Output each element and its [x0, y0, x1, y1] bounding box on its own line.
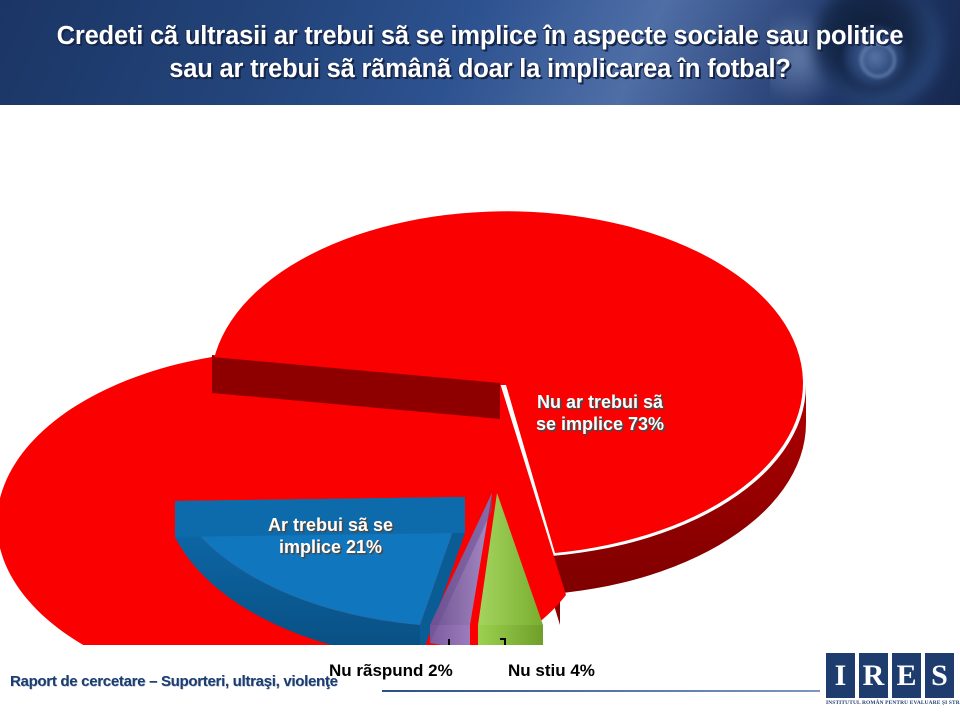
logo-tagline: INSTITUTUL ROMÂN PENTRU EVALUARE ŞI STRA… — [826, 700, 954, 706]
footer: Raport de cercetare – Suporteri, ultraşi… — [0, 645, 960, 720]
footer-divider — [382, 690, 820, 692]
header-banner: Credeti cã ultrasii ar trebui sã se impl… — [0, 0, 960, 105]
logo-letter-i: I — [826, 653, 855, 698]
pie-chart: Nu ar trebui sã se implice 73% Ar trebui… — [0, 105, 960, 645]
footer-report-title: Raport de cercetare – Suporteri, ultraşi… — [10, 673, 338, 690]
logo-letter-r: R — [859, 653, 888, 698]
logo-letter-s: S — [925, 653, 954, 698]
page-title: Credeti cã ultrasii ar trebui sã se impl… — [0, 20, 960, 86]
pie-chart-graphic — [0, 105, 960, 645]
ires-logo: I R E S INSTITUTUL ROMÂN PENTRU EVALUARE… — [826, 653, 954, 713]
logo-letter-e: E — [892, 653, 921, 698]
